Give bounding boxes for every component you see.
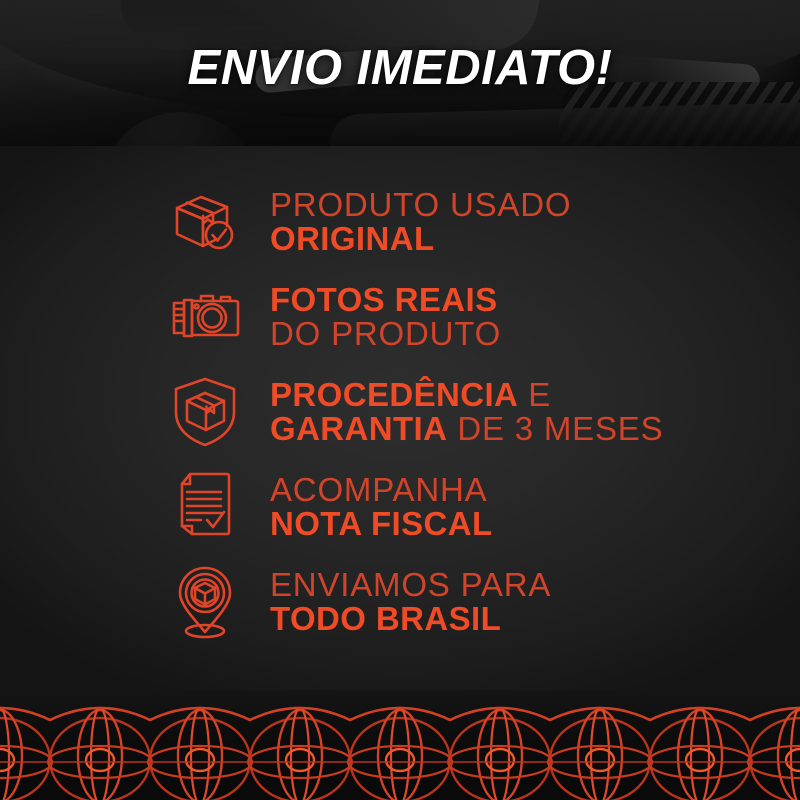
feature-line-2-bold: GARANTIA: [270, 410, 447, 447]
invoice-check-icon: [162, 471, 248, 543]
feature-line-2: ORIGINAL: [270, 222, 571, 256]
feature-text: PROCEDÊNCIA E GARANTIA DE 3 MESES: [270, 378, 663, 445]
feature-line-1: ENVIAMOS PARA: [270, 568, 551, 602]
feature-line-2: GARANTIA DE 3 MESES: [270, 412, 663, 446]
feature-line-2: DO PRODUTO: [270, 317, 501, 351]
shield-box-icon: [162, 376, 248, 448]
header-title: ENVIO IMEDIATO!: [0, 44, 800, 93]
feature-line-1-regular: E: [518, 376, 551, 413]
feature-line-2: NOTA FISCAL: [270, 507, 493, 541]
feature-line-2-regular: DE 3 MESES: [447, 410, 663, 447]
feature-row: PROCEDÊNCIA E GARANTIA DE 3 MESES: [0, 364, 800, 459]
feature-line-1-bold: PROCEDÊNCIA: [270, 376, 518, 413]
camera-icon: [162, 287, 248, 347]
promo-banner: ENVIO IMEDIATO! PRO: [0, 0, 800, 800]
feature-line-2: TODO BRASIL: [270, 602, 551, 636]
feature-text: PRODUTO USADO ORIGINAL: [270, 188, 571, 255]
banner-header: ENVIO IMEDIATO!: [0, 0, 800, 146]
feature-row: FOTOS REAIS DO PRODUTO: [0, 269, 800, 364]
feature-text: ENVIAMOS PARA TODO BRASIL: [270, 568, 551, 635]
feature-line-1: PRODUTO USADO: [270, 188, 571, 222]
feature-row: PRODUTO USADO ORIGINAL: [0, 174, 800, 269]
feature-line-1: FOTOS REAIS: [270, 283, 501, 317]
feature-text: ACOMPANHA NOTA FISCAL: [270, 473, 493, 540]
box-check-icon: [162, 190, 248, 254]
feature-row: ACOMPANHA NOTA FISCAL: [0, 459, 800, 554]
footer-ornament-pattern: [0, 690, 800, 800]
feature-line-1: PROCEDÊNCIA E: [270, 378, 663, 412]
feature-row: ENVIAMOS PARA TODO BRASIL: [0, 554, 800, 649]
feature-list: PRODUTO USADO ORIGINAL: [0, 174, 800, 649]
feature-text: FOTOS REAIS DO PRODUTO: [270, 283, 501, 350]
feature-line-1: ACOMPANHA: [270, 473, 493, 507]
map-pin-box-icon: [162, 564, 248, 640]
banner-body: PRODUTO USADO ORIGINAL: [0, 146, 800, 800]
